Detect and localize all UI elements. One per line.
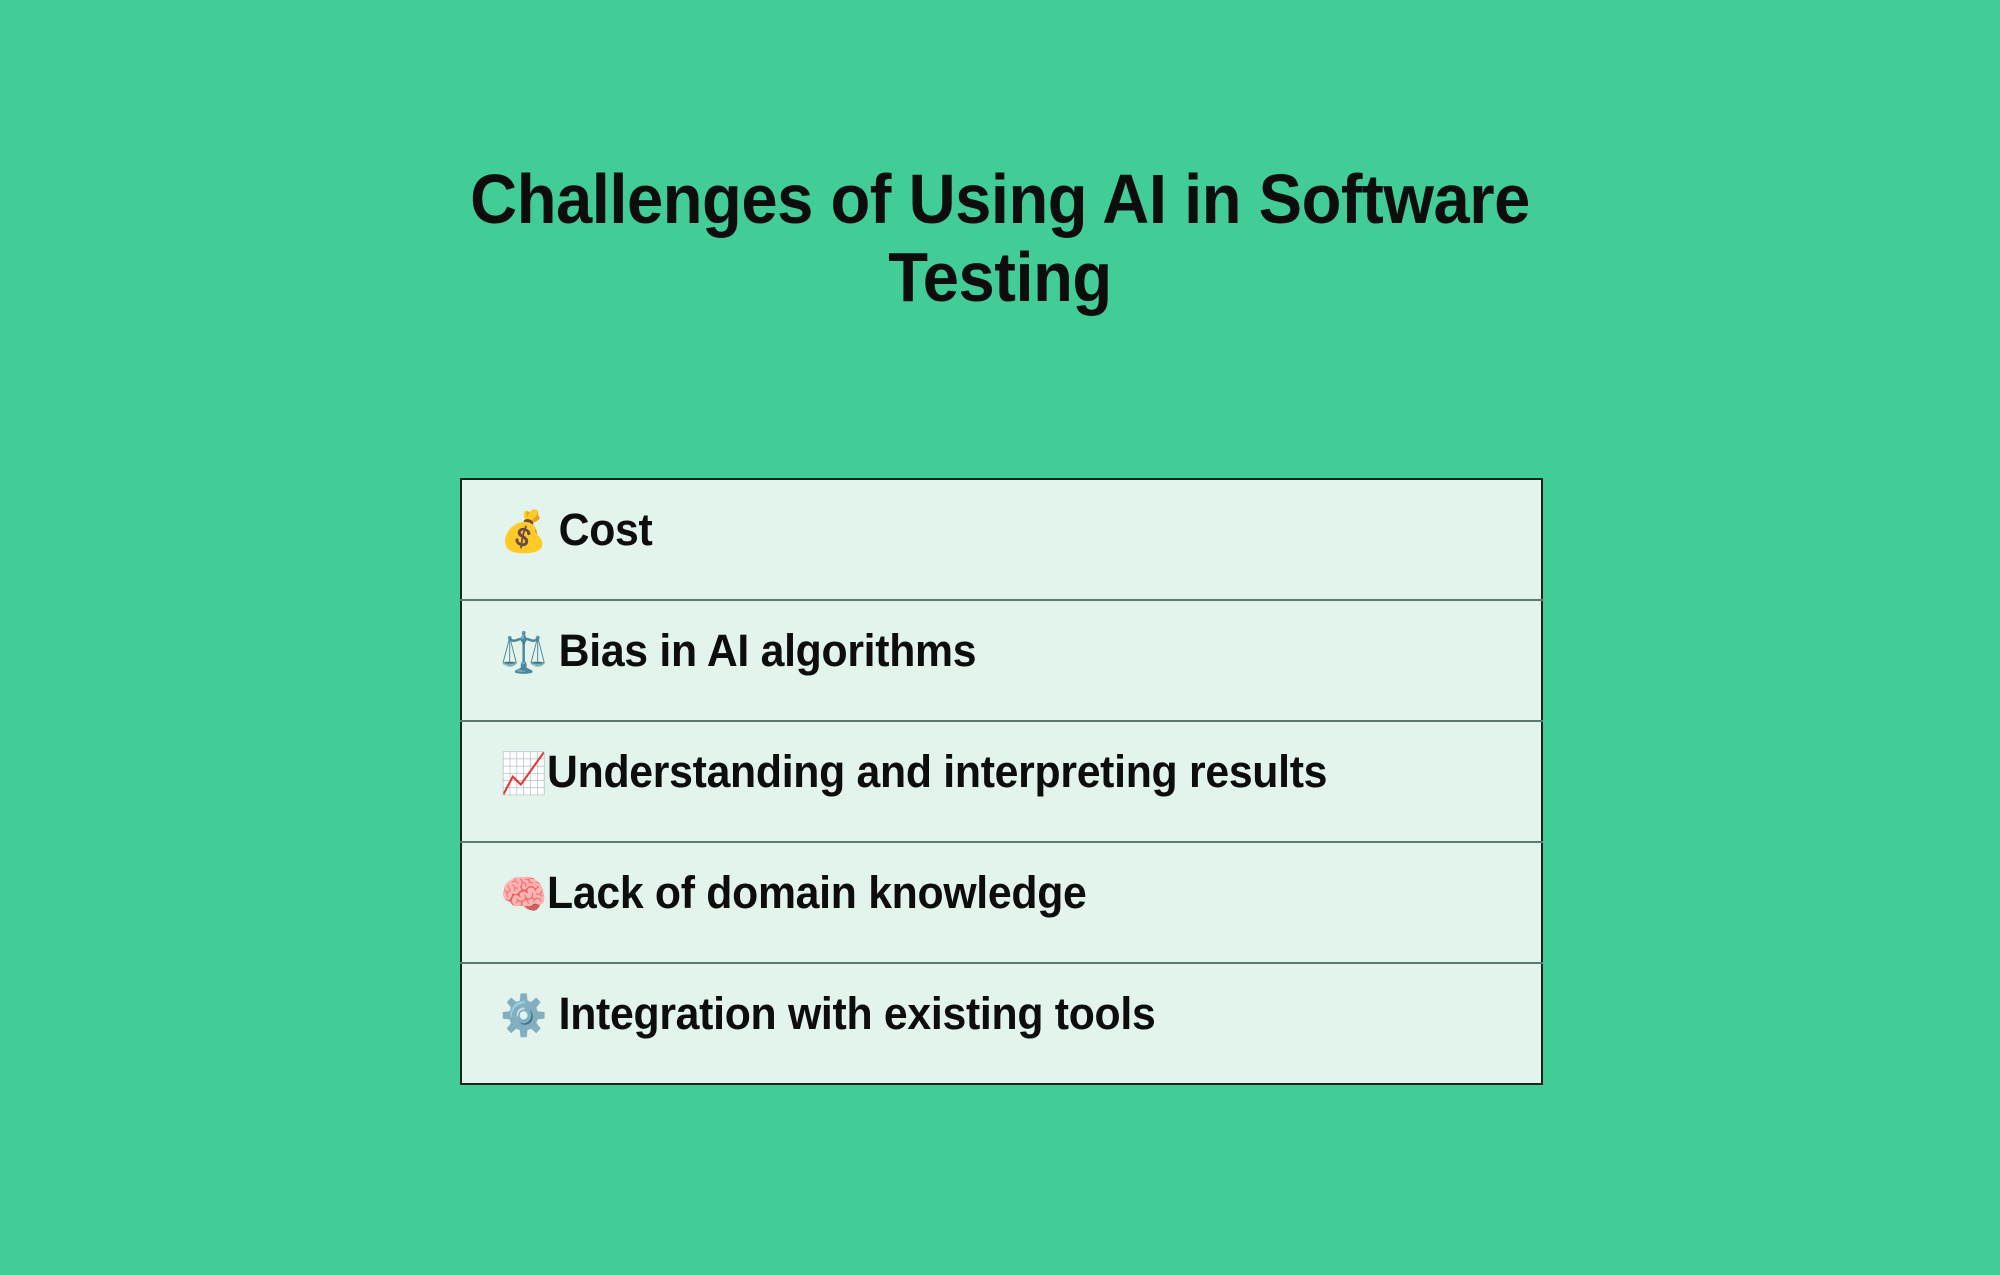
challenges-table-container: 💰 Cost⚖️ Bias in AI algorithms📈Understan… — [460, 478, 1543, 1085]
challenge-item: ⚖️ Bias in AI algorithms — [500, 601, 1489, 674]
challenge-item: ⚙️ Integration with existing tools — [500, 964, 1489, 1037]
challenges-table-body: 💰 Cost⚖️ Bias in AI algorithms📈Understan… — [461, 479, 1542, 1084]
challenge-label: Integration with existing tools — [559, 988, 1156, 1039]
table-cell: ⚙️ Integration with existing tools — [461, 963, 1542, 1084]
icon-label-separator — [547, 504, 559, 555]
challenge-label: Understanding and interpreting results — [547, 746, 1327, 797]
gear-icon: ⚙️ — [500, 993, 547, 1039]
icon-label-separator — [547, 988, 559, 1039]
table-row[interactable]: ⚙️ Integration with existing tools — [461, 963, 1542, 1084]
title-block: Challenges of Using AI in Software Testi… — [330, 160, 1670, 317]
balance-scale-icon: ⚖️ — [500, 630, 547, 676]
challenge-item: 💰 Cost — [500, 480, 1489, 553]
challenges-table: 💰 Cost⚖️ Bias in AI algorithms📈Understan… — [460, 478, 1543, 1085]
table-row[interactable]: 💰 Cost — [461, 479, 1542, 600]
table-row[interactable]: 📈Understanding and interpreting results — [461, 721, 1542, 842]
page-title: Challenges of Using AI in Software Testi… — [377, 160, 1623, 317]
table-cell: 🧠Lack of domain knowledge — [461, 842, 1542, 963]
money-bag-icon: 💰 — [500, 509, 547, 555]
brain-icon: 🧠 — [500, 872, 547, 918]
table-cell: 📈Understanding and interpreting results — [461, 721, 1542, 842]
challenge-item: 📈Understanding and interpreting results — [500, 722, 1489, 795]
slide-canvas: Challenges of Using AI in Software Testi… — [0, 0, 2000, 1275]
icon-label-separator — [547, 625, 559, 676]
table-cell: ⚖️ Bias in AI algorithms — [461, 600, 1542, 721]
challenge-item: 🧠Lack of domain knowledge — [500, 843, 1489, 916]
challenge-label: Cost — [559, 504, 653, 555]
table-cell: 💰 Cost — [461, 479, 1542, 600]
challenge-label: Lack of domain knowledge — [547, 867, 1086, 918]
challenge-label: Bias in AI algorithms — [559, 625, 977, 676]
table-row[interactable]: ⚖️ Bias in AI algorithms — [461, 600, 1542, 721]
chart-increasing-icon: 📈 — [500, 751, 547, 797]
table-row[interactable]: 🧠Lack of domain knowledge — [461, 842, 1542, 963]
